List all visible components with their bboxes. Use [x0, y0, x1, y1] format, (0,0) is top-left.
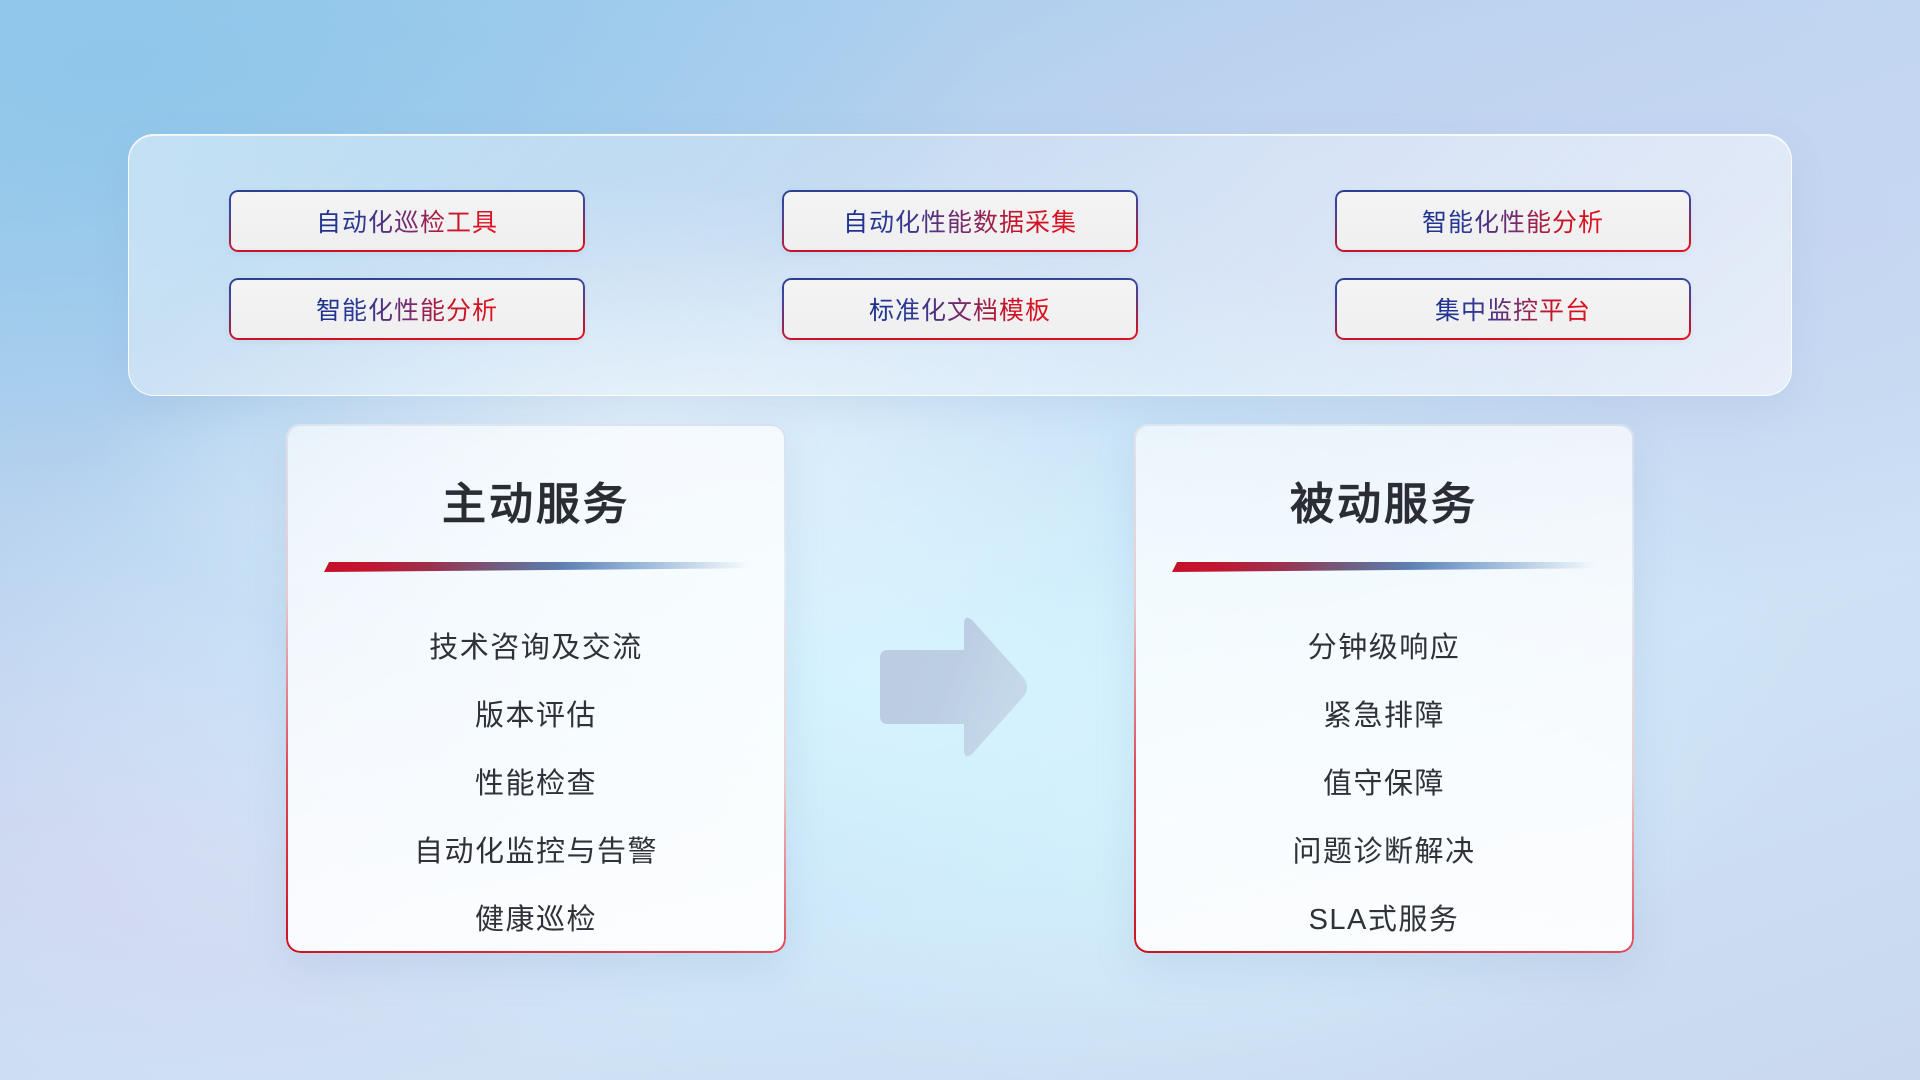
- capability-pill-2-3[interactable]: 集中监控平台: [1335, 278, 1691, 340]
- capability-pill-label: 智能化性能分析: [1422, 203, 1604, 239]
- card-title-proactive: 主动服务: [286, 424, 786, 532]
- service-card-proactive: 主动服务 技术咨询及交流 版本评估 性能检查 自动化监控与告警 健康巡检: [286, 424, 786, 953]
- capability-row-1: 自动化巡检工具 自动化性能数据采集 智能化性能分析: [229, 190, 1691, 252]
- capability-pill-1-3[interactable]: 智能化性能分析: [1335, 190, 1691, 252]
- service-item: 分钟级响应: [1134, 624, 1634, 666]
- capability-pill-label: 标准化文档模板: [869, 291, 1051, 327]
- capability-pill-label: 集中监控平台: [1435, 291, 1591, 327]
- capability-pill-1-2[interactable]: 自动化性能数据采集: [782, 190, 1138, 252]
- service-item: 值守保障: [1134, 760, 1634, 802]
- service-item-list-proactive: 技术咨询及交流 版本评估 性能检查 自动化监控与告警 健康巡检: [286, 572, 786, 938]
- capability-row-2: 智能化性能分析 标准化文档模板 集中监控平台: [229, 278, 1691, 340]
- capability-pill-label: 自动化巡检工具: [316, 203, 498, 239]
- service-item: 自动化监控与告警: [286, 828, 786, 870]
- capability-panel: 自动化巡检工具 自动化性能数据采集 智能化性能分析 智能化性能分析 标准化文档模…: [128, 134, 1792, 396]
- service-item: 问题诊断解决: [1134, 828, 1634, 870]
- arrow-right-icon: [872, 612, 1032, 762]
- service-item: 紧急排障: [1134, 692, 1634, 734]
- card-divider: [324, 562, 748, 572]
- service-card-reactive: 被动服务 分钟级响应 紧急排障 值守保障 问题诊断解决 SLA式服务: [1134, 424, 1634, 953]
- service-item: 版本评估: [286, 692, 786, 734]
- capability-pill-2-2[interactable]: 标准化文档模板: [782, 278, 1138, 340]
- capability-pill-1-1[interactable]: 自动化巡检工具: [229, 190, 585, 252]
- service-item: 健康巡检: [286, 896, 786, 938]
- service-item: 技术咨询及交流: [286, 624, 786, 666]
- capability-pill-label: 智能化性能分析: [316, 291, 498, 327]
- service-item: 性能检查: [286, 760, 786, 802]
- card-title-reactive: 被动服务: [1134, 424, 1634, 532]
- capability-pill-2-1[interactable]: 智能化性能分析: [229, 278, 585, 340]
- card-divider: [1172, 562, 1596, 572]
- service-item-list-reactive: 分钟级响应 紧急排障 值守保障 问题诊断解决 SLA式服务: [1134, 572, 1634, 938]
- capability-pill-label: 自动化性能数据采集: [843, 203, 1077, 239]
- service-item: SLA式服务: [1134, 896, 1634, 938]
